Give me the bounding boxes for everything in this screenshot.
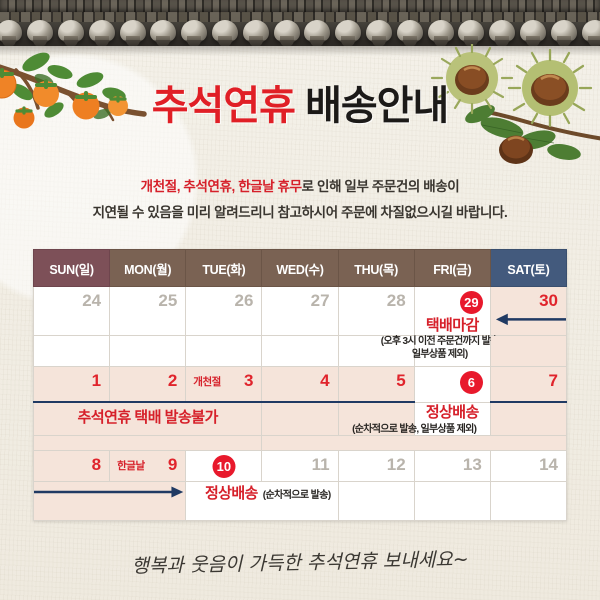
day-number: 26: [186, 287, 261, 311]
day-number: 2: [110, 367, 185, 391]
day-cell-24[interactable]: 24: [34, 287, 110, 336]
day-cell-6[interactable]: 6: [414, 367, 490, 403]
subtitle-line-1: 개천절, 추석연휴, 한글날 휴무로 인해 일부 주문건의 배송이: [0, 174, 600, 200]
normal-delivery-label: 정상배송: [415, 401, 490, 422]
weekday-header-sun: SUN(일): [34, 250, 110, 287]
day-number: 24: [34, 287, 109, 311]
subtitle-line-1-rest: 로 인해 일부 주문건의 배송이: [302, 179, 460, 194]
week3-delivery-note: 정상배송 (순차적으로 발송): [180, 482, 355, 503]
weekday-header-wed: WED(수): [262, 250, 338, 287]
day-number: 5: [339, 367, 414, 391]
day-number: 28: [339, 287, 414, 311]
normal-delivery-note: (순차적으로 발송, 일부상품 제외): [262, 424, 566, 437]
subtitle: 개천절, 추석연휴, 한글날 휴무로 인해 일부 주문건의 배송이 지연될 수 …: [0, 174, 600, 227]
day-cell-4[interactable]: 4: [262, 367, 338, 403]
holiday-name-label: 한글날: [117, 458, 144, 473]
weekday-header-sat: SAT(토): [490, 250, 566, 287]
day-cell-1[interactable]: 1: [34, 367, 110, 403]
day-cell-29[interactable]: 29 택배마감: [414, 287, 490, 336]
calendar-note-row-week3: 정상배송 (순차적으로 발송): [34, 482, 567, 521]
day-number: 13: [415, 451, 490, 475]
calendar-row-week3: 8 한글날 9 10 11 12 13 14: [34, 451, 567, 482]
day-number: 8: [34, 451, 109, 475]
arrow-left-icon: [491, 287, 566, 335]
footer-message: 행복과 웃음이 가득한 추석연휴 보내세요~: [0, 542, 600, 582]
subtitle-highlight: 개천절, 추석연휴, 한글날 휴무: [141, 179, 302, 194]
day-number: 25: [110, 287, 185, 311]
arrow-right-icon: [34, 482, 185, 520]
weekday-header-fri: FRI(금): [414, 250, 490, 287]
subtitle-line-2: 지연될 수 있음을 미리 알려드리니 참고하시어 주문에 차질없으시길 바랍니다…: [0, 200, 600, 226]
delivery-calendar: SUN(일) MON(월) TUE(화) WED(수) THU(목) FRI(금…: [33, 249, 567, 521]
weekday-header-thu: THU(목): [338, 250, 414, 287]
status-badge: 10: [212, 455, 235, 478]
day-number: 4: [262, 367, 337, 391]
calendar-row-week2: 1 2 개천절 3 4 5 6 7: [34, 367, 567, 403]
status-badge: 29: [460, 291, 483, 314]
calendar-header-row: SUN(일) MON(월) TUE(화) WED(수) THU(목) FRI(금…: [34, 250, 567, 287]
day-cell-30[interactable]: 30: [490, 287, 566, 336]
calendar-row-week1: 24 25 26 27 28 29 택배마감 30: [34, 287, 567, 336]
day-cell-28[interactable]: 28: [338, 287, 414, 336]
weekday-header-mon: MON(월): [110, 250, 186, 287]
day-number: 27: [262, 287, 337, 311]
day-cell-2[interactable]: 2: [110, 367, 186, 403]
calendar-note-row-week1: (오후 3시 이전 주문건까지 발송 일부상품 제외): [34, 336, 567, 367]
day-cell-8[interactable]: 8: [34, 451, 110, 482]
page-title-red: 추석연휴: [152, 84, 295, 128]
delivery-deadline-label: 택배마감: [415, 314, 490, 335]
day-cell-5[interactable]: 5: [338, 367, 414, 403]
day-number: 14: [491, 451, 566, 475]
day-cell-12[interactable]: 12: [338, 451, 414, 482]
holiday-name-label: 개천절: [193, 374, 220, 389]
day-cell-9[interactable]: 한글날 9: [110, 451, 186, 482]
day-number: 7: [491, 367, 566, 391]
day-cell-26[interactable]: 26: [186, 287, 262, 336]
day-cell-3[interactable]: 개천절 3: [186, 367, 262, 403]
day-number: 11: [262, 451, 337, 475]
page-title-black: 배송안내: [305, 84, 448, 128]
day-cell-25[interactable]: 25: [110, 287, 186, 336]
day-number: 1: [34, 367, 109, 391]
page-title: 추석연휴 배송안내: [0, 86, 600, 126]
day-cell-10[interactable]: 10: [186, 451, 262, 482]
day-cell-11[interactable]: 11: [262, 451, 338, 482]
day-cell-13[interactable]: 13: [414, 451, 490, 482]
status-badge: 6: [460, 371, 483, 394]
no-delivery-band: 추석연휴 택배 발송불가: [34, 402, 262, 436]
weekday-header-tue: TUE(화): [186, 250, 262, 287]
day-number: 12: [339, 451, 414, 475]
day-cell-7[interactable]: 7: [490, 367, 566, 403]
calendar-subnote-row-week2: (순차적으로 발송, 일부상품 제외): [34, 436, 567, 451]
day-cell-27[interactable]: 27: [262, 287, 338, 336]
day-cell-14[interactable]: 14: [490, 451, 566, 482]
